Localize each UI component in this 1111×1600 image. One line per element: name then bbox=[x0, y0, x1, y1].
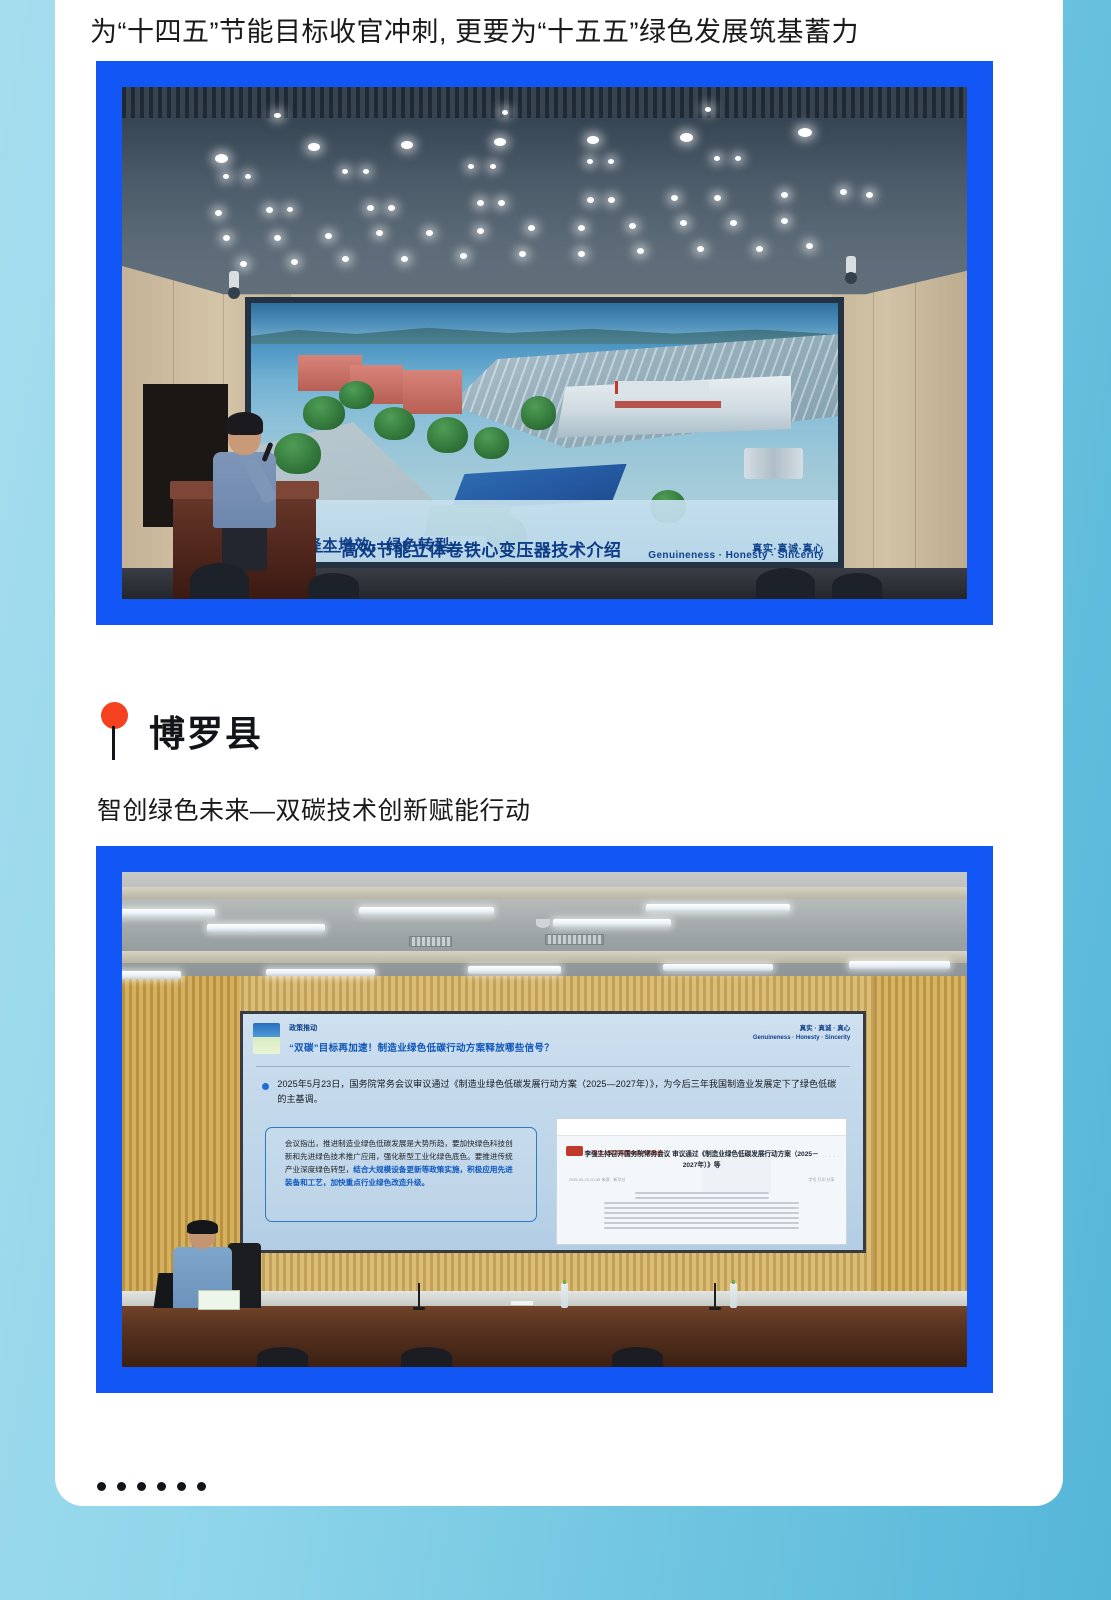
map-pin-icon bbox=[97, 700, 131, 762]
slide-caption-line2: ——高效节能立体卷铁心变压器技术介绍 bbox=[306, 536, 621, 561]
ceiling-downlight bbox=[629, 223, 636, 229]
water-bottle bbox=[561, 1283, 568, 1308]
ceiling-camera-icon bbox=[536, 919, 550, 928]
curtain-right bbox=[874, 971, 967, 1298]
ceiling-downlight bbox=[477, 228, 484, 234]
ceiling-downlight bbox=[477, 200, 484, 206]
gov-site-header bbox=[557, 1119, 846, 1137]
conference-table bbox=[122, 1298, 967, 1367]
page-title: 为“十四五”节能目标收官冲刺, 更要为“十五五”绿色发展筑基蓄力 bbox=[90, 14, 1030, 50]
location-subtitle: 智创绿色未来—双碳技术创新赋能行动 bbox=[97, 791, 531, 827]
gov-article-body-lines bbox=[586, 1189, 817, 1232]
ceiling-beam bbox=[122, 951, 967, 963]
aerial-storage-tanks bbox=[744, 448, 803, 479]
air-vent bbox=[409, 936, 451, 947]
ceiling-grille bbox=[122, 87, 967, 118]
ceiling-downlight bbox=[587, 136, 599, 144]
ceiling-downlight bbox=[680, 133, 693, 142]
audience-head bbox=[756, 568, 815, 599]
ceiling-downlight bbox=[697, 246, 704, 252]
slide-body-text: 2025年5月23日，国务院常务会议审议通过《制造业绿色低碳发展行动方案（202… bbox=[277, 1077, 841, 1107]
ceiling-tube-light bbox=[553, 919, 671, 927]
photo-frame-one[interactable]: 降本增效，绿色转型 ——高效节能立体卷铁心变压器技术介绍 真实·真诚·真心 Ge… bbox=[96, 61, 993, 625]
paper-sheet bbox=[511, 1301, 533, 1305]
slide-bullet-marker bbox=[262, 1083, 269, 1090]
ceiling-downlight bbox=[274, 113, 281, 118]
aerial-factory-red-band bbox=[615, 401, 721, 407]
aerial-red-building bbox=[403, 370, 462, 414]
ceiling-downlight bbox=[490, 164, 496, 169]
ceiling-downlight bbox=[866, 192, 873, 198]
gov-article-meta-right: 字号 打印 分享 bbox=[808, 1177, 834, 1183]
ceiling-downlight bbox=[401, 256, 408, 262]
ceiling-downlight bbox=[388, 205, 395, 211]
speaker-presenter bbox=[211, 415, 279, 569]
water-bottle bbox=[730, 1283, 737, 1308]
slide-callout-box: 会议指出，推进制造业绿色低碳发展是大势所趋，要加快绿色科技创新和先进绿色技术推广… bbox=[265, 1127, 537, 1222]
ceiling-downlight bbox=[587, 159, 593, 164]
aerial-tree bbox=[427, 417, 468, 453]
ceiling-downlight bbox=[494, 138, 506, 146]
security-camera-icon bbox=[845, 256, 857, 290]
audience-head bbox=[401, 1347, 452, 1367]
ceiling-downlight bbox=[608, 159, 614, 164]
article-card: 为“十四五”节能目标收官冲刺, 更要为“十五五”绿色发展筑基蓄力 bbox=[55, 0, 1063, 1506]
ceiling-downlight bbox=[680, 220, 687, 226]
ceiling-downlight bbox=[367, 205, 374, 211]
aerial-tree bbox=[303, 396, 344, 430]
audience-head bbox=[190, 563, 249, 599]
ceiling-tube-light bbox=[849, 961, 950, 969]
ceiling-downlight bbox=[781, 192, 788, 198]
ceiling-downlight bbox=[714, 156, 720, 161]
ceiling-tube-light bbox=[468, 966, 561, 974]
air-vent bbox=[545, 934, 604, 945]
ceiling-downlight bbox=[781, 218, 788, 224]
ceiling-downlight bbox=[376, 230, 383, 236]
slide-slogan-en: Genuineness · Honesty · Sincerity bbox=[753, 1035, 850, 1041]
ellipsis-dot bbox=[97, 1482, 106, 1491]
ceiling-downlight bbox=[215, 210, 222, 216]
gov-article-headline: 李强主持召开国务院常务会议 审议通过《制造业绿色低碳发展行动方案（2025－20… bbox=[580, 1149, 823, 1171]
audience-head bbox=[308, 573, 359, 599]
aerial-tree bbox=[339, 381, 374, 410]
aerial-tree bbox=[521, 396, 556, 430]
ceiling-tube-light bbox=[663, 964, 773, 972]
ceiling-downlight bbox=[735, 156, 741, 161]
gov-article-meta-left: 2025-05-23 20:35 来源：新华社 bbox=[569, 1177, 626, 1183]
ceiling-tube-light bbox=[646, 904, 790, 912]
ceiling-downlight bbox=[325, 233, 332, 239]
slide-tag: 政策推动 bbox=[289, 1023, 317, 1033]
gov-website-screenshot: 中华人民共和国中央人民政府 · · · · · · · 李强主持召开国务院常务会… bbox=[556, 1118, 847, 1246]
aerial-tree bbox=[274, 433, 321, 474]
aerial-tree bbox=[374, 407, 415, 441]
ellipsis-dot bbox=[157, 1482, 166, 1491]
ellipsis-dot bbox=[117, 1482, 126, 1491]
desk-microphone bbox=[418, 1283, 420, 1308]
audience-head bbox=[257, 1347, 308, 1367]
ceiling-downlight bbox=[519, 251, 526, 257]
ceiling-beam bbox=[122, 887, 967, 899]
ceiling-downlight bbox=[266, 207, 273, 213]
audience-head bbox=[612, 1347, 663, 1367]
ceiling-downlight bbox=[498, 200, 505, 206]
aerial-factory-sign bbox=[615, 381, 709, 394]
aerial-tree bbox=[474, 427, 509, 458]
slide-caption-bar: 降本增效，绿色转型 ——高效节能立体卷铁心变压器技术介绍 真实·真诚·真心 Ge… bbox=[251, 500, 839, 562]
ceiling-downlight bbox=[798, 128, 812, 137]
ceiling-downlight bbox=[245, 174, 251, 179]
ceiling-tube-light bbox=[122, 971, 181, 979]
ceiling-downlight bbox=[671, 195, 678, 201]
ellipsis-dot bbox=[197, 1482, 206, 1491]
ceiling-tube-light bbox=[266, 969, 376, 977]
ceiling-downlight bbox=[291, 259, 298, 265]
photo-frame-two[interactable]: 政策推动 “双碳”目标再加速！制造业绿色低碳行动方案释放哪些信号？ 真实 · 真… bbox=[96, 846, 993, 1393]
ceiling-downlight bbox=[342, 256, 349, 262]
slide-logo bbox=[253, 1023, 280, 1054]
ceiling-downlight bbox=[528, 225, 535, 231]
slide-divider bbox=[256, 1066, 851, 1067]
photo-one: 降本增效，绿色转型 ——高效节能立体卷铁心变压器技术介绍 真实·真诚·真心 Ge… bbox=[122, 87, 967, 599]
ellipsis-indicator bbox=[97, 1482, 206, 1491]
ceiling-downlight bbox=[714, 195, 721, 201]
ceiling-downlight bbox=[608, 197, 615, 203]
ceiling-tube-light bbox=[359, 907, 494, 915]
location-heading: 博罗县 bbox=[97, 700, 263, 762]
led-wall-screen: 降本增效，绿色转型 ——高效节能立体卷铁心变压器技术介绍 真实·真诚·真心 Ge… bbox=[245, 297, 845, 568]
ceiling-downlight bbox=[587, 197, 594, 203]
photo-two: 政策推动 “双碳”目标再加速！制造业绿色低碳行动方案释放哪些信号？ 真实 · 真… bbox=[122, 872, 967, 1367]
name-plate bbox=[198, 1290, 240, 1310]
ceiling-tube-light bbox=[122, 909, 215, 917]
ellipsis-dot bbox=[137, 1482, 146, 1491]
ceiling-downlight bbox=[215, 154, 228, 163]
ceiling-downlight bbox=[401, 141, 413, 149]
audience-head bbox=[832, 573, 883, 599]
location-name: 博罗县 bbox=[149, 705, 263, 757]
ceiling-tube-light bbox=[207, 924, 325, 932]
ceiling-downlight bbox=[363, 169, 369, 174]
slide-slogan-en: Genuineness · Honesty · Sincerity bbox=[648, 550, 823, 561]
desk-microphone bbox=[714, 1283, 716, 1308]
ceiling-soffit bbox=[122, 87, 967, 323]
slide-slogan-cn: 真实 · 真诚 · 真心 bbox=[800, 1022, 851, 1032]
slide-title: “双碳”目标再加速！制造业绿色低碳行动方案释放哪些信号？ bbox=[289, 1040, 554, 1054]
ellipsis-dot bbox=[177, 1482, 186, 1491]
projection-screen: 政策推动 “双碳”目标再加速！制造业绿色低碳行动方案释放哪些信号？ 真实 · 真… bbox=[240, 1011, 865, 1254]
security-camera-icon bbox=[228, 271, 240, 305]
ceiling-downlight bbox=[756, 246, 763, 252]
ceiling-downlight bbox=[342, 169, 348, 174]
